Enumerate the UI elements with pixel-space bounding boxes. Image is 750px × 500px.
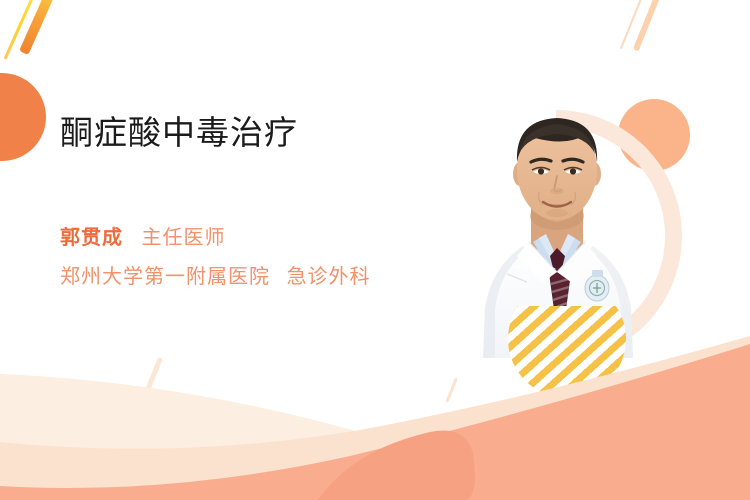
page-title: 酮症酸中毒治疗 xyxy=(60,112,460,154)
doctor-name: 郭贯成 xyxy=(60,227,123,249)
diagonal-stripe-thick-top-left-icon xyxy=(19,0,61,55)
course-title-card: 酮症酸中毒治疗 郭贯成 主任医师 郑州大学第一附属医院 急诊外科 xyxy=(0,0,750,500)
department-name: 急诊外科 xyxy=(287,266,371,288)
diagonal-stripe-thin-top-right-icon xyxy=(620,0,648,49)
hospital-name: 郑州大学第一附属医院 xyxy=(60,266,270,288)
text-block: 酮症酸中毒治疗 郭贯成 主任医师 郑州大学第一附属医院 急诊外科 xyxy=(60,112,460,292)
doctor-name-row: 郭贯成 主任医师 xyxy=(60,223,460,253)
doctor-affiliation-row: 郑州大学第一附属医院 急诊外科 xyxy=(60,262,460,292)
diagonal-stripe-thick-top-right-icon xyxy=(633,0,667,52)
wave-decoration xyxy=(0,310,750,500)
orange-circle-icon xyxy=(0,73,46,161)
doctor-title: 主任医师 xyxy=(141,227,225,249)
diagonal-stripe-thin-top-left-icon xyxy=(4,0,39,60)
doctor-info: 郭贯成 主任医师 郑州大学第一附属医院 急诊外科 xyxy=(60,223,460,292)
